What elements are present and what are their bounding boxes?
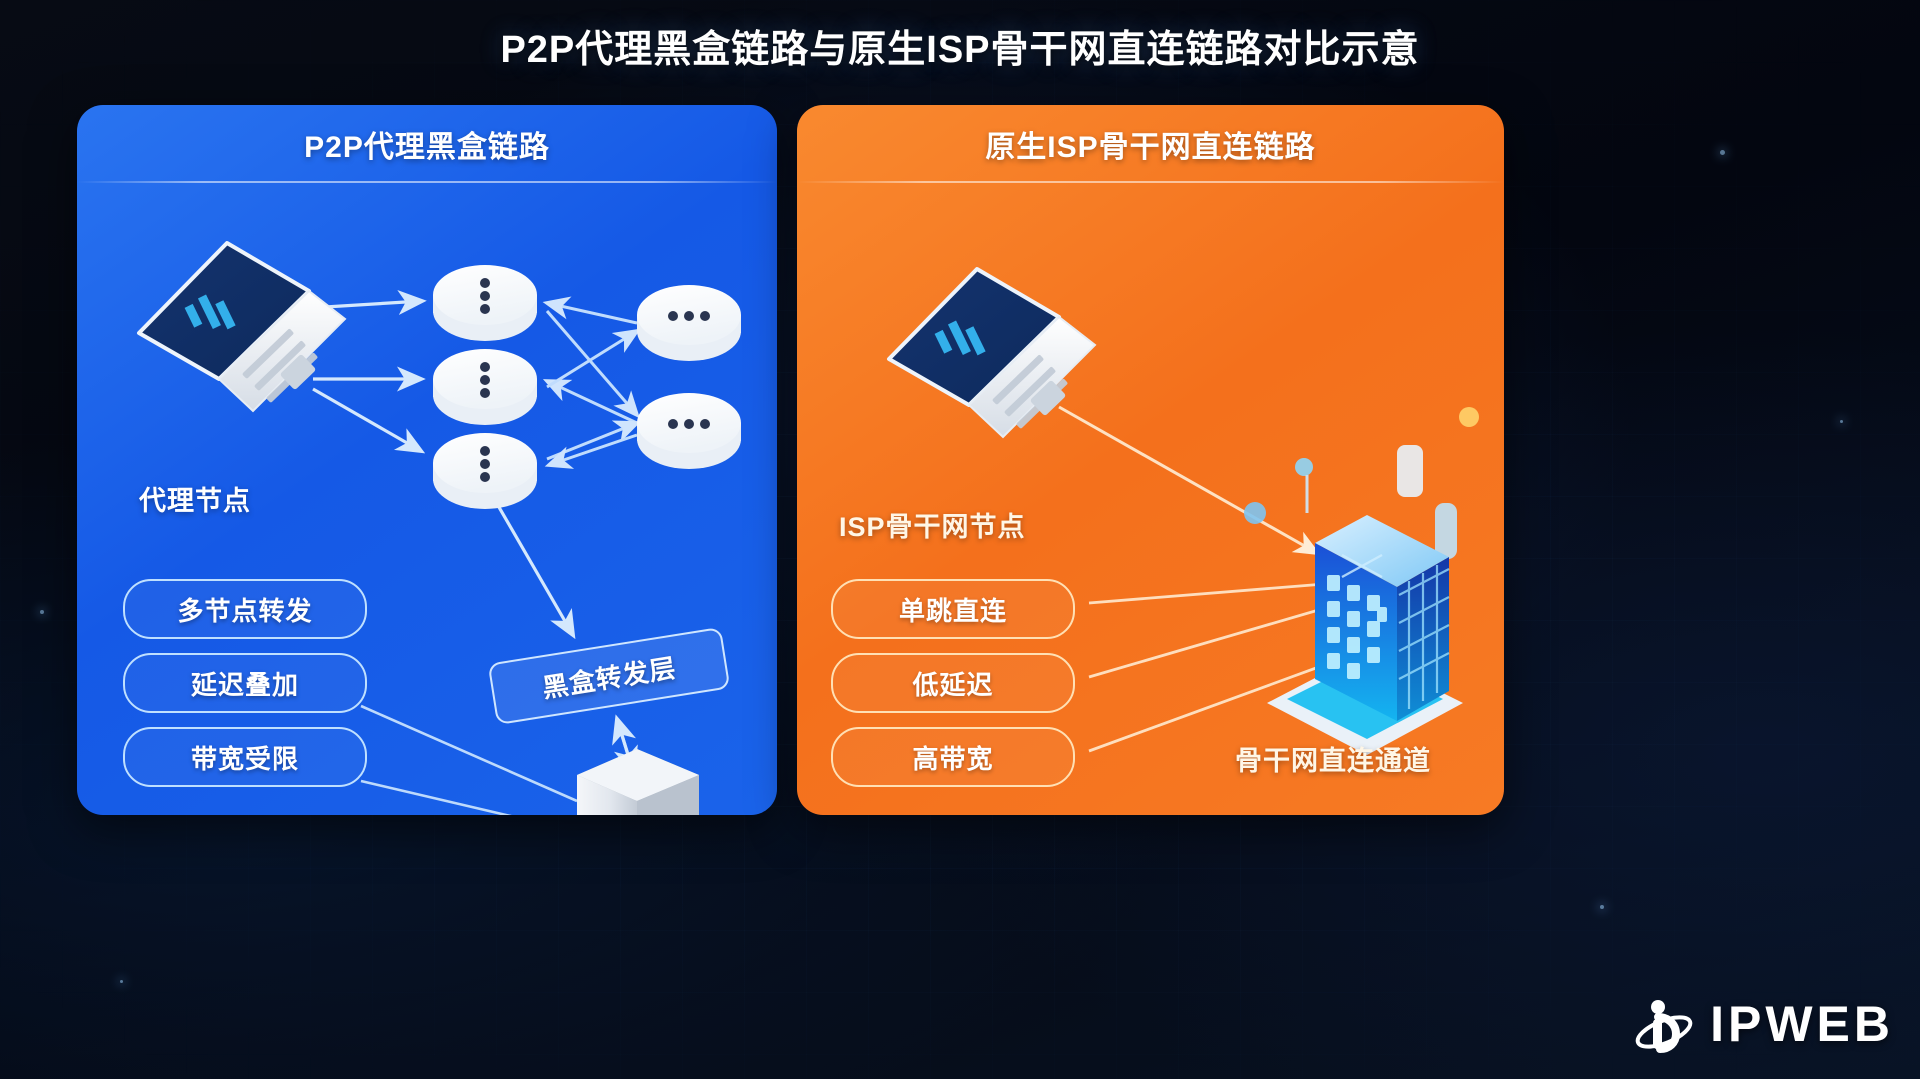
left-source-caption: 代理节点 (139, 479, 251, 518)
laptop-illustration-right (889, 269, 1095, 437)
panel-p2p-proxy: P2P代理黑盒链路 (77, 105, 777, 815)
target-server-illustration (577, 749, 699, 815)
panel-right-header: 原生ISP骨干网直连链路 (797, 105, 1504, 183)
page-title: P2P代理黑盒链路与原生ISP骨干网直连链路对比示意 (0, 18, 1920, 73)
spark-dot (1840, 420, 1843, 423)
left-pill-1[interactable]: 延迟叠加 (123, 653, 367, 713)
proxy-node-5 (637, 393, 741, 469)
right-pill-2-label: 高带宽 (912, 739, 993, 776)
ipweb-wordmark: IPWEB (1710, 995, 1894, 1053)
right-diagram-svg (797, 183, 1504, 815)
proxy-node-3 (433, 433, 537, 509)
spark-dot (1600, 905, 1604, 909)
proxy-node-2 (433, 349, 537, 425)
blackbox-relay-label: 黑盒转发层 (539, 647, 678, 705)
deco-floaters (1244, 407, 1479, 559)
left-pill-2-label: 带宽受限 (191, 739, 299, 776)
right-pill-0[interactable]: 单跳直连 (831, 579, 1075, 639)
right-pill-2[interactable]: 高带宽 (831, 727, 1075, 787)
right-pill-0-label: 单跳直连 (899, 591, 1007, 628)
blackbox-relay-layer: 黑盒转发层 (488, 627, 731, 725)
ipweb-orbit-icon (1634, 993, 1696, 1055)
panel-left-title: P2P代理黑盒链路 (304, 122, 550, 166)
panel-left-body: 黑盒转发层 代理节点 目标服务器 多节点转发 延迟叠加 带宽受限 (77, 183, 777, 815)
panel-right-body: ISP骨干网节点 骨干网直连通道 单跳直连 低延迟 高带宽 (797, 183, 1504, 815)
right-pill-1[interactable]: 低延迟 (831, 653, 1075, 713)
left-pill-1-label: 延迟叠加 (191, 665, 299, 702)
proxy-node-4 (637, 285, 741, 361)
panel-left-header: P2P代理黑盒链路 (77, 105, 777, 183)
proxy-node-1 (433, 265, 537, 341)
datacenter-illustration (1267, 515, 1463, 755)
left-pill-0-label: 多节点转发 (177, 591, 312, 628)
ipweb-logo: IPWEB (1634, 993, 1894, 1055)
panel-isp-backbone: 原生ISP骨干网直连链路 (797, 105, 1504, 815)
right-pill-1-label: 低延迟 (912, 665, 993, 702)
right-source-caption: ISP骨干网节点 (839, 505, 1026, 544)
right-target-caption: 骨干网直连通道 (1235, 739, 1431, 778)
laptop-illustration (139, 243, 345, 411)
spark-dot (120, 980, 123, 983)
left-pill-2[interactable]: 带宽受限 (123, 727, 367, 787)
panel-right-title: 原生ISP骨干网直连链路 (985, 122, 1315, 166)
spark-dot (40, 610, 44, 614)
left-pill-0[interactable]: 多节点转发 (123, 579, 367, 639)
spark-dot (1720, 150, 1725, 155)
